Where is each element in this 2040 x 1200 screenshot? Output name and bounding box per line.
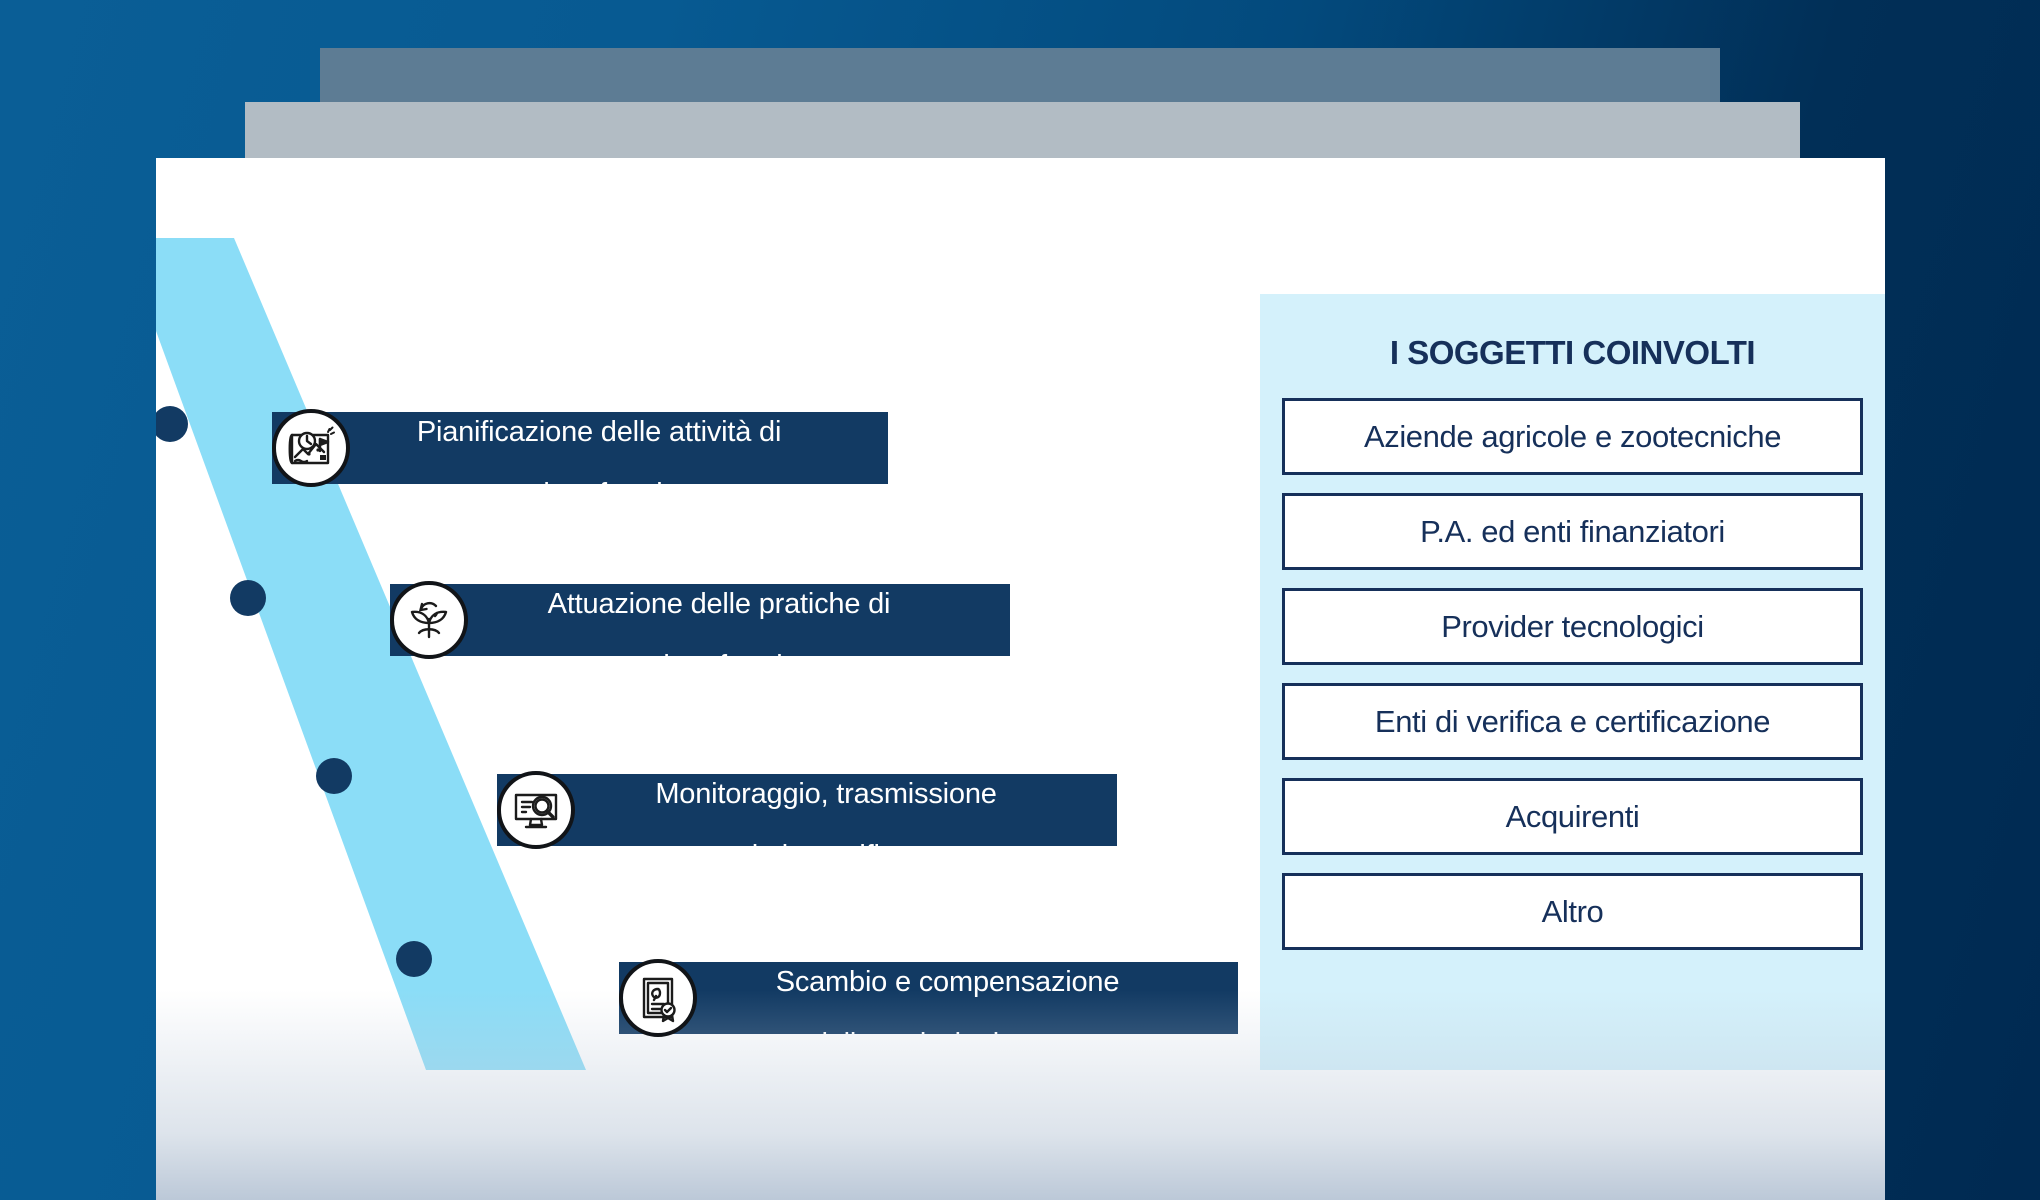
step-label-4-note: (opzionale) xyxy=(999,1038,1083,1057)
step-label-2-line2: carbon farming xyxy=(624,650,815,682)
step-label-3-line1: Monitoraggio, trasmissione xyxy=(655,778,996,810)
band-dot-4 xyxy=(396,941,432,977)
panel-title: I SOGGETTI COINVOLTI xyxy=(1282,334,1863,372)
slide-canvas: Pianificazione delle attività di carbon … xyxy=(0,0,2040,1200)
party-item-5-label: Acquirenti xyxy=(1506,799,1640,835)
party-item-6-label: Altro xyxy=(1542,894,1604,930)
step-bar-3: Monitoraggio, trasmissione dati e verifi… xyxy=(497,774,1117,846)
step-label-3-line2: dati e verifica xyxy=(742,840,910,872)
involved-parties-panel: I SOGGETTI COINVOLTI Aziende agricole e … xyxy=(1260,294,1885,1070)
step-label-1: Pianificazione delle attività di carbon … xyxy=(417,387,781,510)
step-label-1-line1: Pianificazione delle attività di xyxy=(417,416,781,448)
party-item-5[interactable]: Acquirenti xyxy=(1282,778,1863,855)
party-item-6[interactable]: Altro xyxy=(1282,873,1863,950)
step-item-2[interactable]: Attuazione delle pratiche di carbon farm… xyxy=(390,574,1010,666)
band-dot-3 xyxy=(316,758,352,794)
step-item-3[interactable]: Monitoraggio, trasmissione dati e verifi… xyxy=(497,764,1117,856)
party-item-2[interactable]: P.A. ed enti finanziatori xyxy=(1282,493,1863,570)
band-dot-1 xyxy=(156,406,188,442)
party-item-4[interactable]: Enti di verifica e certificazione xyxy=(1282,683,1863,760)
step-bar-4: Scambio e compensazione delle emissioni(… xyxy=(619,962,1238,1034)
step-label-2: Attuazione delle pratiche di carbon farm… xyxy=(548,559,891,682)
band-dot-2 xyxy=(230,580,266,616)
step-label-1-line2: carbon farming xyxy=(504,478,695,510)
step-label-4: Scambio e compensazione delle emissioni(… xyxy=(776,937,1120,1060)
step-label-3: Monitoraggio, trasmissione dati e verifi… xyxy=(655,749,996,872)
party-item-3[interactable]: Provider tecnologici xyxy=(1282,588,1863,665)
party-item-1[interactable]: Aziende agricole e zootecniche xyxy=(1282,398,1863,475)
planning-chart-icon xyxy=(272,409,350,487)
content-card: Pianificazione delle attività di carbon … xyxy=(156,158,1885,1200)
party-item-3-label: Provider tecnologici xyxy=(1441,609,1704,645)
party-item-2-label: P.A. ed enti finanziatori xyxy=(1420,514,1725,550)
plant-recycle-icon xyxy=(390,581,468,659)
certificate-seal-icon xyxy=(619,959,697,1037)
step-bar-1: Pianificazione delle attività di carbon … xyxy=(272,412,888,484)
step-item-4[interactable]: Scambio e compensazione delle emissioni(… xyxy=(619,952,1238,1044)
monitor-search-icon xyxy=(497,771,575,849)
step-label-4-line1: Scambio e compensazione xyxy=(776,966,1120,998)
step-label-4-line2: delle emissioni xyxy=(812,1028,999,1060)
party-item-4-label: Enti di verifica e certificazione xyxy=(1375,704,1770,740)
step-bar-2: Attuazione delle pratiche di carbon farm… xyxy=(390,584,1010,656)
step-item-1[interactable]: Pianificazione delle attività di carbon … xyxy=(272,402,888,494)
step-label-2-line1: Attuazione delle pratiche di xyxy=(548,588,891,620)
party-item-1-label: Aziende agricole e zootecniche xyxy=(1364,419,1781,455)
